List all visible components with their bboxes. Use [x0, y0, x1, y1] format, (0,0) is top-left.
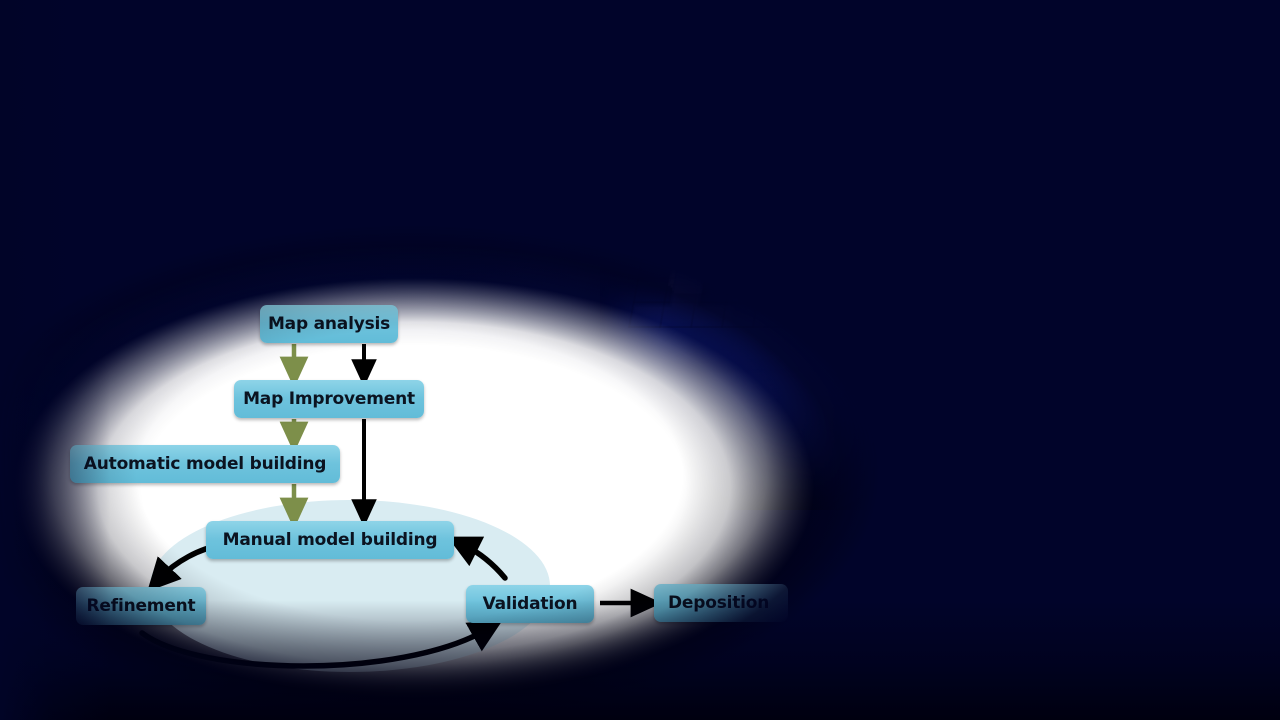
- cryoem-workflow-diagram: Map analysis Map Improvement Automatic m…: [0, 0, 1280, 720]
- node-map-analysis[interactable]: Map analysis: [260, 305, 398, 343]
- node-label: Map Improvement: [243, 389, 415, 409]
- node-label: Map analysis: [268, 314, 390, 334]
- node-map-improvement[interactable]: Map Improvement: [234, 380, 424, 418]
- node-manual-model-building[interactable]: Manual model building: [206, 521, 454, 559]
- node-deposition[interactable]: Deposition: [654, 584, 788, 622]
- node-label: Manual model building: [223, 530, 438, 550]
- node-label: Automatic model building: [84, 454, 326, 474]
- node-refinement[interactable]: Refinement: [76, 587, 206, 625]
- node-label: Refinement: [87, 596, 196, 616]
- node-automatic-model-building[interactable]: Automatic model building: [70, 445, 340, 483]
- slide-canvas: Tutorial Tutorial Cryo-EM tools: [0, 0, 1280, 720]
- node-validation[interactable]: Validation: [466, 585, 594, 623]
- node-label: Validation: [483, 594, 578, 614]
- node-label: Deposition: [668, 593, 769, 613]
